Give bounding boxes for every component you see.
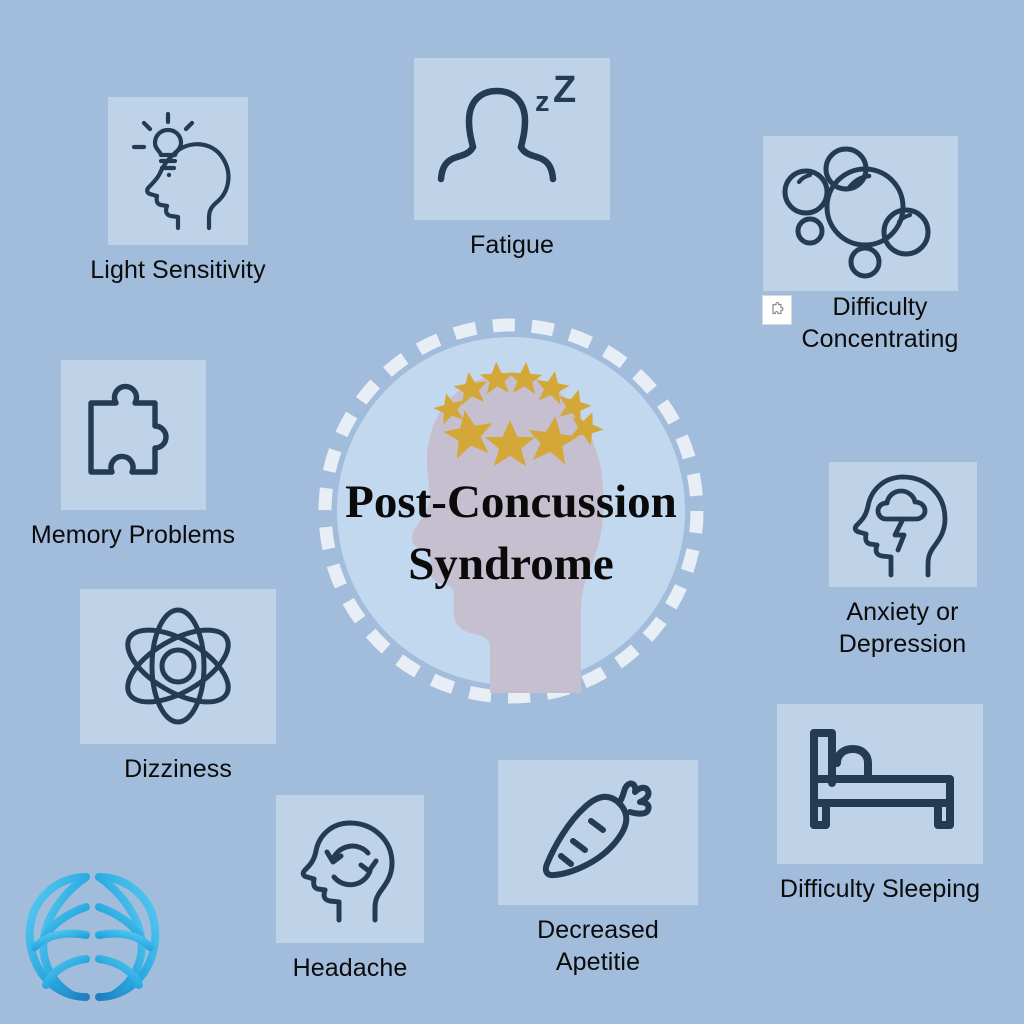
ribbon-brain-logo (10, 855, 175, 1015)
symptom-label-difficulty-sleeping: Difficulty Sleeping (780, 873, 980, 905)
symptom-anxiety-or-depression[interactable]: Anxiety or Depression (795, 462, 1010, 660)
tile-dizziness (80, 589, 276, 744)
tile-anxiety-or-depression (829, 462, 977, 587)
symptom-label-dizziness: Dizziness (124, 753, 232, 785)
center-head-with-stars (311, 311, 711, 711)
symptom-decreased-appetite[interactable]: Decreased Apetitie (498, 760, 698, 978)
head-with-lightbulb-icon (119, 110, 237, 232)
symptom-difficulty-sleeping[interactable]: Difficulty Sleeping (750, 704, 1010, 905)
infographic-canvas: Post-Concussion Syndrome (0, 0, 1024, 1024)
tile-difficulty-concentrating (763, 136, 958, 291)
symptom-difficulty-concentrating[interactable]: Difficulty Concentrating (715, 136, 1005, 355)
head-with-storm-cloud-icon (839, 469, 967, 581)
bed-icon (792, 719, 968, 849)
center-medallion: Post-Concussion Syndrome (311, 311, 711, 711)
symptom-label-headache: Headache (293, 952, 408, 984)
atom-orbit-icon (98, 599, 258, 734)
symptom-dizziness[interactable]: Dizziness (62, 589, 294, 785)
tile-fatigue: z Z (414, 58, 610, 220)
head-with-circular-arrows-icon (288, 807, 412, 931)
symptom-label-memory-problems: Memory Problems (31, 519, 235, 551)
tile-difficulty-sleeping (777, 704, 983, 864)
bubbles-icon (773, 144, 948, 284)
puzzle-piece-glyph (768, 302, 785, 319)
symptom-label-light-sensitivity: Light Sensitivity (90, 254, 265, 286)
symptom-label-fatigue: Fatigue (470, 229, 554, 261)
carrot-icon (518, 770, 678, 895)
symptom-light-sensitivity[interactable]: Light Sensitivity (62, 97, 294, 286)
tile-light-sensitivity (108, 97, 248, 245)
symptom-memory-problems[interactable]: Memory Problems (8, 360, 258, 551)
symptom-fatigue[interactable]: z Z Fatigue (410, 58, 614, 261)
tile-headache (276, 795, 424, 943)
symptom-label-anxiety-or-depression: Anxiety or Depression (839, 596, 966, 660)
symptom-label-difficulty-concentrating: Difficulty Concentrating (802, 291, 959, 355)
symptom-headache[interactable]: Headache (252, 795, 448, 984)
tile-decreased-appetite (498, 760, 698, 905)
puzzle-piece-icon (73, 374, 193, 496)
head-silhouette-icon (412, 374, 604, 693)
z-large-icon: Z (553, 69, 576, 111)
label-row-difficulty-concentrating: Difficulty Concentrating (762, 291, 959, 355)
tile-memory-problems (61, 360, 206, 510)
brain-logo-icon (10, 855, 175, 1015)
z-small-icon: z (535, 86, 550, 118)
sleeping-person-zz-icon: z Z (427, 69, 597, 209)
puzzle-piece-placeholder-icon (762, 295, 792, 325)
symptom-label-decreased-appetite: Decreased Apetitie (537, 914, 659, 978)
